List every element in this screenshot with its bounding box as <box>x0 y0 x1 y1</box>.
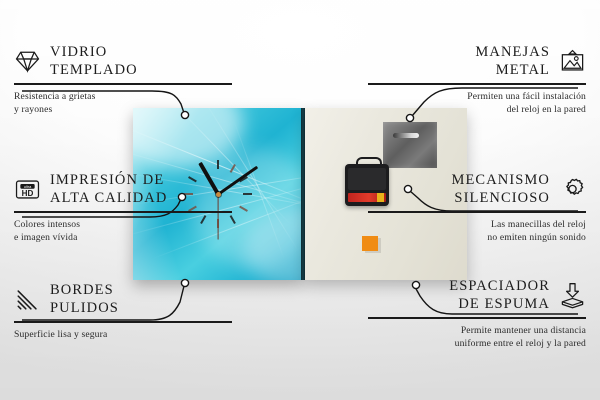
feature-impresion-alta-calidad: ultra HD IMPRESIÓN DE ALTA CALIDAD Color… <box>14 172 232 244</box>
feature-title-line2: SILENCIOSO <box>451 190 550 208</box>
feature-desc-line1: Resistencia a grietas <box>14 90 232 103</box>
feature-divider <box>368 211 586 213</box>
picture-frame-hanger-icon <box>559 48 586 75</box>
feature-title-line2: ALTA CALIDAD <box>50 190 167 208</box>
hanger-slot <box>393 133 419 138</box>
feature-title-line1: IMPRESIÓN DE <box>50 172 167 190</box>
feature-title-line1: MANEJAS <box>475 44 550 62</box>
movement-hook <box>356 157 382 168</box>
feature-title-line2: DE ESPUMA <box>449 296 550 314</box>
feature-desc-line1: Permiten una fácil instalación <box>368 90 586 103</box>
feature-title-line2: METAL <box>475 62 550 80</box>
feature-desc-line2: no emiten ningún sonido <box>368 231 586 244</box>
ultra-hd-icon-bottom-text: HD <box>22 189 34 198</box>
diamond-icon <box>14 48 41 75</box>
feature-bordes-pulidos: BORDES PULIDOS Superficie lisa y segura <box>14 282 232 341</box>
feature-desc-line2: uniforme entre el reloj y la pared <box>368 337 586 350</box>
feature-divider <box>14 83 232 85</box>
feature-divider <box>368 83 586 85</box>
ultra-hd-icon: ultra HD <box>14 176 41 203</box>
metal-hanger-plate <box>383 122 437 168</box>
infographic-canvas: VIDRIO TEMPLADO Resistencia a grietas y … <box>0 0 600 400</box>
feature-manejas-metal: MANEJAS METAL Permiten una fácil instala… <box>368 44 586 116</box>
feature-title-line1: ESPACIADOR <box>449 278 550 296</box>
feature-desc-line2: y rayones <box>14 103 232 116</box>
feature-divider <box>368 317 586 319</box>
polished-edges-icon <box>14 286 41 313</box>
foam-spacer-arrow-icon <box>559 282 586 309</box>
feature-desc-line2: del reloj en la pared <box>368 103 586 116</box>
feature-title-line1: MECANISMO <box>451 172 550 190</box>
feature-desc-line2: e imagen vívida <box>14 231 232 244</box>
feature-divider <box>14 211 232 213</box>
feature-desc-line1: Colores intensos <box>14 218 232 231</box>
feature-title-line1: VIDRIO <box>50 44 138 62</box>
feature-mecanismo-silencioso: MECANISMO SILENCIOSO Las manecillas del … <box>368 172 586 244</box>
feature-desc-line1: Superficie lisa y segura <box>14 328 232 341</box>
ultra-hd-icon-top-text: ultra <box>24 184 32 189</box>
feature-desc-line1: Permite mantener una distancia <box>368 324 586 337</box>
feature-espaciador-espuma: ESPACIADOR DE ESPUMA Permite mantener un… <box>368 278 586 350</box>
feature-title-line2: TEMPLADO <box>50 62 138 80</box>
gear-icon <box>559 176 586 203</box>
feature-title-line2: PULIDOS <box>50 300 119 318</box>
feature-vidrio-templado: VIDRIO TEMPLADO Resistencia a grietas y … <box>14 44 232 116</box>
feature-title-line1: BORDES <box>50 282 119 300</box>
feature-divider <box>14 321 232 323</box>
feature-desc-line1: Las manecillas del reloj <box>368 218 586 231</box>
